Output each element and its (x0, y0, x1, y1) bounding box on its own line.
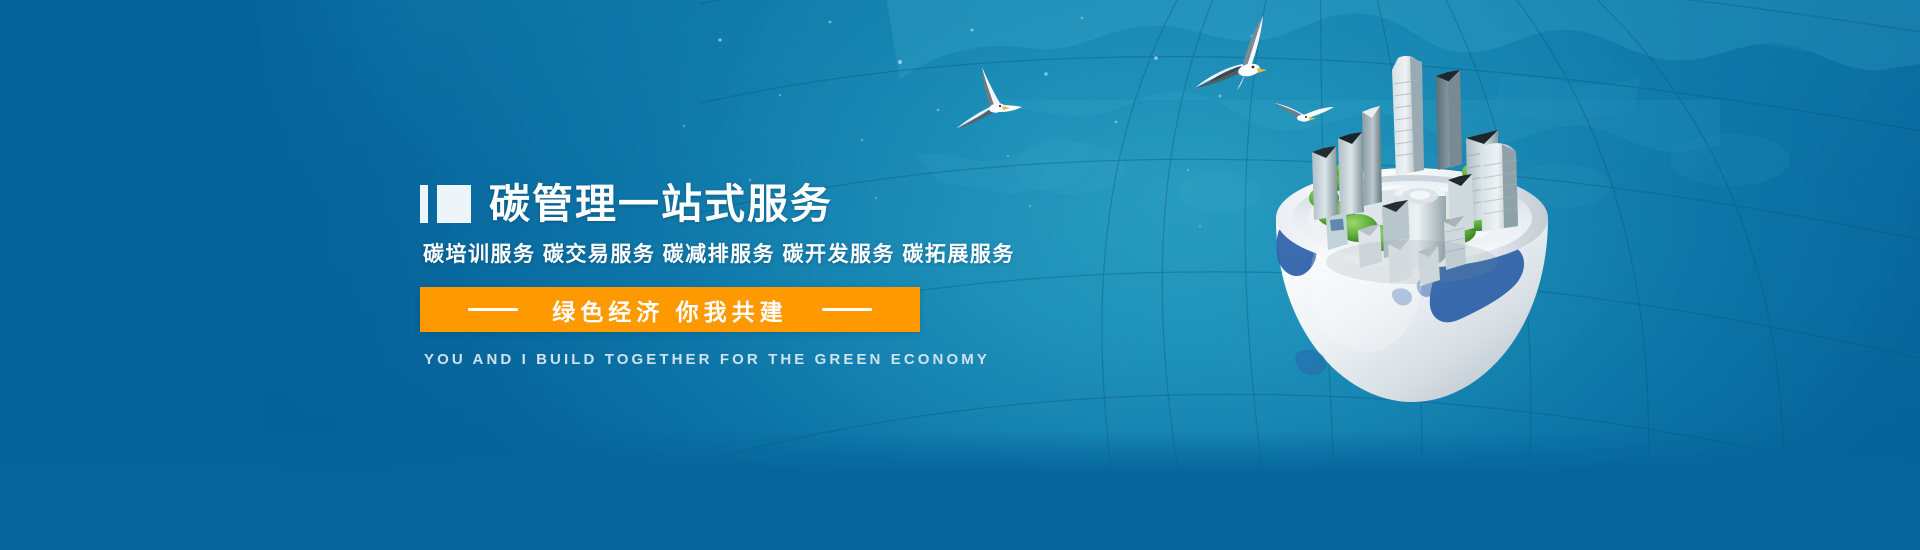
hero-banner: 碳管理一站式服务 碳培训服务 碳交易服务 碳减排服务 碳开发服务 碳拓展服务 绿… (0, 0, 1920, 550)
english-tagline: YOU AND I BUILD TOGETHER FOR THE GREEN E… (424, 350, 1060, 370)
banner-content: 碳管理一站式服务 碳培训服务 碳交易服务 碳减排服务 碳开发服务 碳拓展服务 绿… (420, 178, 1060, 370)
dash-rule-icon (468, 308, 518, 311)
globe-hemisphere-city-icon (1262, 30, 1562, 420)
slogan-text: 绿色经济 你我共建 (552, 293, 787, 327)
page-title: 碳管理一站式服务 (489, 182, 833, 226)
slogan-banner: 绿色经济 你我共建 (420, 287, 920, 332)
title-row: 碳管理一站式服务 (420, 178, 1060, 230)
service-list: 碳培训服务 碳交易服务 碳减排服务 碳开发服务 碳拓展服务 (423, 242, 1060, 268)
mark-bar-icon (420, 185, 428, 223)
background-bottom-fade (0, 430, 1920, 550)
dash-rule-icon (822, 308, 872, 311)
seagull-icon (950, 55, 1040, 135)
bar-square-mark-icon (420, 185, 471, 223)
mark-square-icon (437, 185, 471, 223)
